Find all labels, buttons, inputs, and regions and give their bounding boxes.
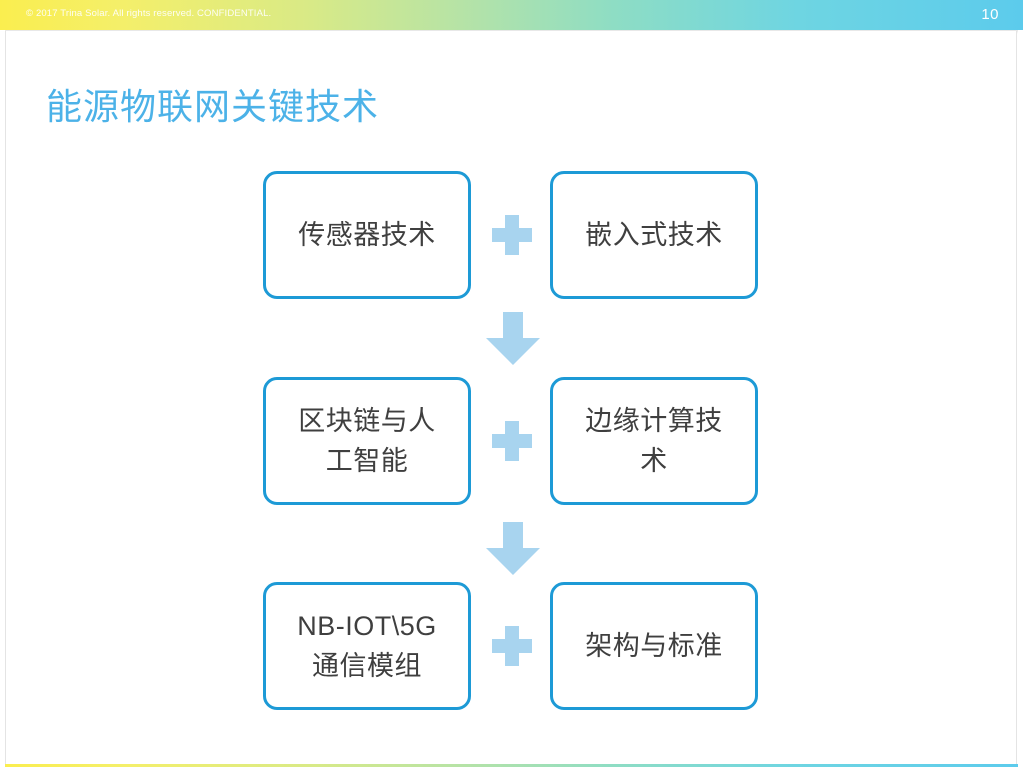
plus-icon-vertical-bar bbox=[505, 626, 519, 666]
plus-icon bbox=[492, 215, 532, 255]
node-box-embedded-tech[interactable]: 嵌入式技术 bbox=[550, 171, 758, 299]
node-box-sensor-tech[interactable]: 传感器技术 bbox=[263, 171, 471, 299]
arrow-down-icon bbox=[484, 522, 542, 576]
plus-icon-vertical-bar bbox=[505, 215, 519, 255]
plus-icon bbox=[492, 626, 532, 666]
technology-stack-diagram: 传感器技术 嵌入式技术 区块链与人 工智能 边缘计算技 术 bbox=[0, 0, 1023, 770]
node-label: 传感器技术 bbox=[288, 215, 446, 255]
arrow-down-icon bbox=[484, 312, 542, 366]
node-label: 嵌入式技术 bbox=[575, 215, 733, 255]
node-label: 架构与标准 bbox=[575, 626, 733, 666]
node-box-architecture-standards[interactable]: 架构与标准 bbox=[550, 582, 758, 710]
footer-gradient-rule bbox=[5, 764, 1018, 767]
node-label: 区块链与人 工智能 bbox=[288, 401, 446, 481]
plus-icon-vertical-bar bbox=[505, 421, 519, 461]
node-box-blockchain-ai[interactable]: 区块链与人 工智能 bbox=[263, 377, 471, 505]
node-box-nbiot-5g-module[interactable]: NB-IOT\5G 通信模组 bbox=[263, 582, 471, 710]
node-label: NB-IOT\5G 通信模组 bbox=[287, 606, 447, 686]
presentation-slide: © 2017 Trina Solar. All rights reserved.… bbox=[0, 0, 1023, 770]
node-label: 边缘计算技 术 bbox=[575, 401, 733, 481]
plus-icon bbox=[492, 421, 532, 461]
node-box-edge-computing[interactable]: 边缘计算技 术 bbox=[550, 377, 758, 505]
